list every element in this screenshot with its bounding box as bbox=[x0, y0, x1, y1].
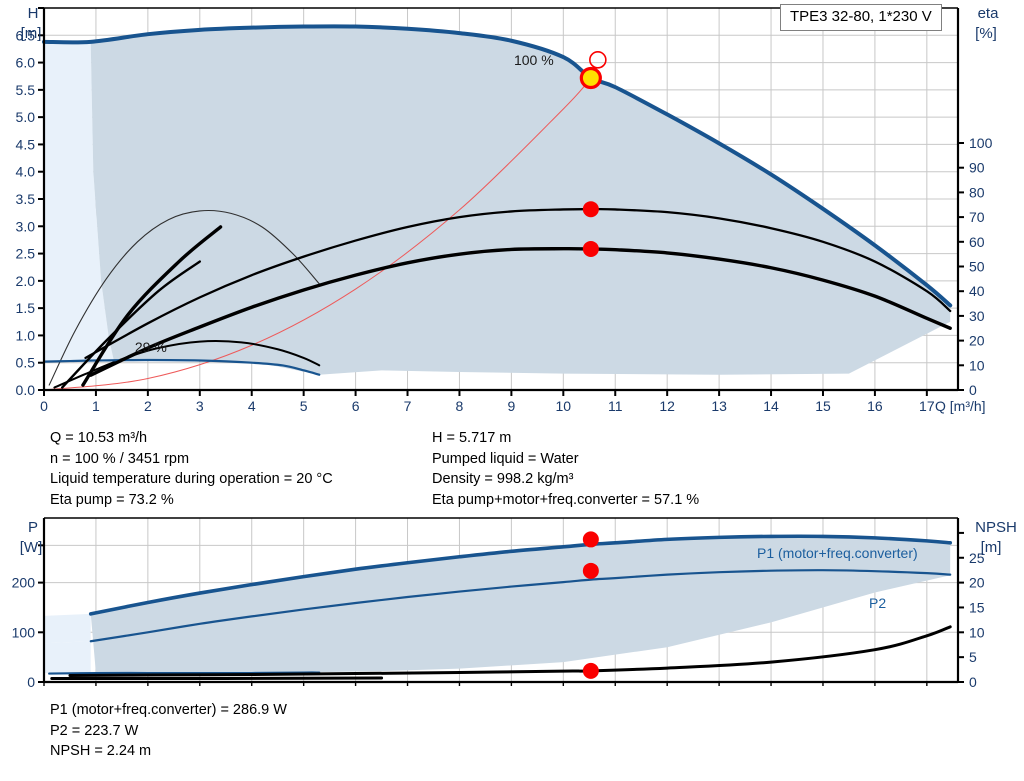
tick-label-eta: 30 bbox=[969, 308, 985, 324]
duty-info-left-2: Liquid temperature during operation = 20… bbox=[50, 469, 333, 490]
tick-label-q: 10 bbox=[556, 398, 572, 414]
envelope-light-2 bbox=[44, 641, 91, 673]
tick-label-eta: 90 bbox=[969, 160, 985, 176]
marker-npsh[interactable] bbox=[583, 663, 599, 679]
tick-label-h: 3.5 bbox=[16, 191, 36, 207]
power-npsh-chart: 0100200P[W]0510152025NPSH[m]P1 (motor+fr… bbox=[0, 512, 1024, 697]
tick-label-eta: 60 bbox=[969, 234, 985, 250]
tick-label-h: 5.0 bbox=[16, 109, 36, 125]
tick-label-eta: 20 bbox=[969, 333, 985, 349]
axis-unit-h: [m] bbox=[21, 25, 42, 42]
envelope-light bbox=[44, 614, 91, 643]
marker-duty-hollow[interactable] bbox=[590, 52, 606, 68]
tick-label-q: 15 bbox=[815, 398, 831, 414]
tick-label-h: 6.0 bbox=[16, 55, 36, 71]
duty-info-right-2: Density = 998.2 kg/m³ bbox=[432, 469, 699, 490]
label-p1: P1 (motor+freq.converter) bbox=[757, 545, 918, 561]
axis-unit-p: [W] bbox=[20, 539, 43, 556]
pump-curve-page: 0.00.51.01.52.02.53.03.54.04.55.05.56.06… bbox=[0, 0, 1024, 781]
duty-info-right: H = 5.717 m Pumped liquid = Water Densit… bbox=[432, 428, 699, 510]
tick-label-q: 5 bbox=[300, 398, 308, 414]
tick-label-eta: 70 bbox=[969, 209, 985, 225]
axis-title-eta: eta bbox=[978, 5, 1000, 22]
tick-label-h: 1.0 bbox=[16, 327, 36, 343]
tick-label-q: 3 bbox=[196, 398, 204, 414]
tick-label-p: 0 bbox=[27, 674, 35, 690]
duty-info-right-0: H = 5.717 m bbox=[432, 428, 699, 449]
axis-title-h: H bbox=[28, 5, 39, 22]
tick-label-h: 4.0 bbox=[16, 164, 36, 180]
tick-label-h: 1.5 bbox=[16, 300, 36, 316]
axis-title-p: P bbox=[28, 519, 38, 536]
tick-label-p: 100 bbox=[12, 624, 36, 640]
duty-info-left-3: Eta pump = 73.2 % bbox=[50, 490, 333, 511]
tick-label-q: 4 bbox=[248, 398, 256, 414]
tick-label-h: 4.5 bbox=[16, 136, 36, 152]
head-efficiency-chart: 0.00.51.01.52.02.53.03.54.04.55.05.56.06… bbox=[0, 0, 1024, 420]
duty-info-left: Q = 10.53 m³/h n = 100 % / 3451 rpm Liqu… bbox=[50, 428, 333, 510]
tick-label-npsh: 15 bbox=[969, 599, 985, 615]
tick-label-q: 6 bbox=[352, 398, 360, 414]
duty-info-right-3: Eta pump+motor+freq.converter = 57.1 % bbox=[432, 490, 699, 511]
tick-label-p: 200 bbox=[12, 575, 36, 591]
tick-label-q: 13 bbox=[711, 398, 727, 414]
tick-label-q: 14 bbox=[763, 398, 779, 414]
tick-label-eta: 50 bbox=[969, 259, 985, 275]
tick-label-npsh: 5 bbox=[969, 649, 977, 665]
annotation-100-percent: 100 % bbox=[514, 52, 554, 68]
envelope-main bbox=[91, 27, 951, 375]
tick-label-h: 2.0 bbox=[16, 273, 36, 289]
tick-label-eta: 100 bbox=[969, 135, 993, 151]
tick-label-h: 5.5 bbox=[16, 82, 36, 98]
tick-label-h: 3.0 bbox=[16, 218, 36, 234]
pump-title-box: TPE3 32-80, 1*230 V bbox=[780, 4, 942, 31]
tick-label-h: 0.0 bbox=[16, 382, 36, 398]
power-info: P1 (motor+freq.converter) = 286.9 W P2 =… bbox=[50, 700, 287, 762]
tick-label-q: 9 bbox=[507, 398, 515, 414]
axis-title-q: Q [m³/h] bbox=[935, 398, 986, 414]
tick-label-npsh: 20 bbox=[969, 575, 985, 591]
tick-label-eta: 40 bbox=[969, 283, 985, 299]
axis-unit-npsh: [m] bbox=[981, 539, 1002, 556]
marker-p2[interactable] bbox=[583, 563, 599, 579]
tick-label-q: 7 bbox=[404, 398, 412, 414]
tick-label-h: 2.5 bbox=[16, 246, 36, 262]
curve-min-speed-power bbox=[52, 678, 382, 679]
pump-title: TPE3 32-80, 1*230 V bbox=[790, 8, 932, 25]
tick-label-eta: 10 bbox=[969, 357, 985, 373]
power-info-0: P1 (motor+freq.converter) = 286.9 W bbox=[50, 700, 287, 721]
tick-label-q: 8 bbox=[456, 398, 464, 414]
axis-title-npsh: NPSH bbox=[975, 519, 1017, 536]
tick-label-q: 0 bbox=[40, 398, 48, 414]
tick-label-q: 17 bbox=[919, 398, 935, 414]
tick-label-q: 2 bbox=[144, 398, 152, 414]
marker-eta-pump[interactable] bbox=[583, 201, 599, 217]
tick-label-eta: 80 bbox=[969, 184, 985, 200]
power-info-2: NPSH = 2.24 m bbox=[50, 741, 287, 762]
tick-label-q: 12 bbox=[659, 398, 675, 414]
duty-info-right-1: Pumped liquid = Water bbox=[432, 449, 699, 470]
tick-label-npsh: 0 bbox=[969, 674, 977, 690]
tick-label-q: 16 bbox=[867, 398, 883, 414]
power-info-1: P2 = 223.7 W bbox=[50, 721, 287, 742]
axis-unit-eta: [%] bbox=[975, 25, 997, 42]
label-p2: P2 bbox=[869, 595, 886, 611]
annotation-29-percent: 29 % bbox=[135, 339, 167, 355]
tick-label-eta: 0 bbox=[969, 382, 977, 398]
duty-info-left-0: Q = 10.53 m³/h bbox=[50, 428, 333, 449]
marker-duty-point[interactable] bbox=[581, 69, 600, 88]
tick-label-npsh: 10 bbox=[969, 624, 985, 640]
tick-label-h: 0.5 bbox=[16, 355, 36, 371]
tick-label-q: 11 bbox=[608, 398, 623, 414]
duty-info-left-1: n = 100 % / 3451 rpm bbox=[50, 449, 333, 470]
marker-eta-total[interactable] bbox=[583, 241, 599, 257]
tick-label-q: 1 bbox=[92, 398, 100, 414]
marker-p1[interactable] bbox=[583, 531, 599, 547]
